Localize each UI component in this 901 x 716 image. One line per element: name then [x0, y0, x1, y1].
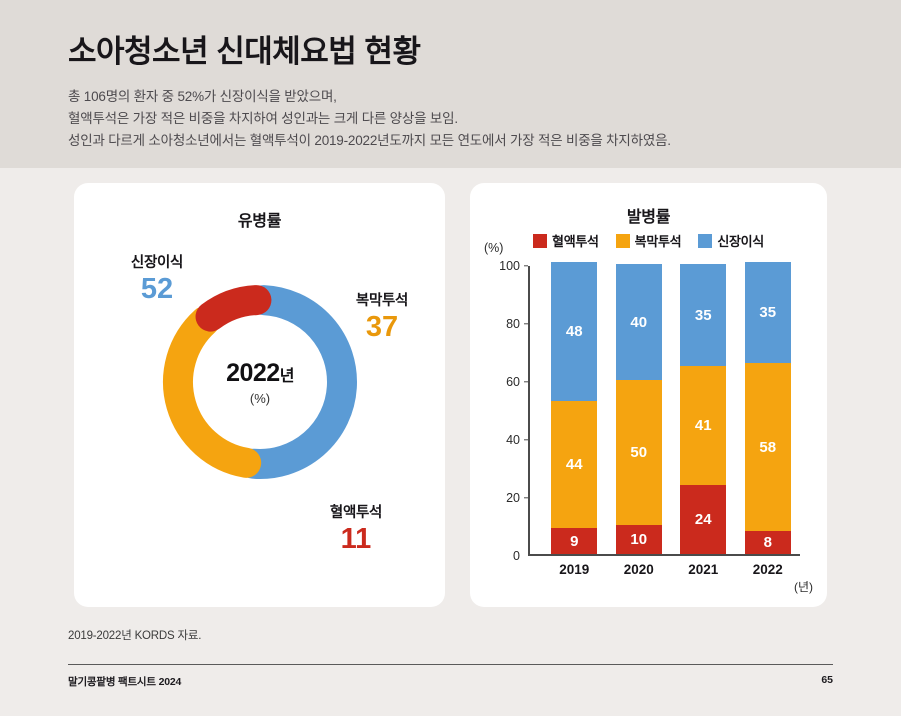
- bar-segment-신장이식: 35: [680, 264, 726, 366]
- donut-label-peritoneal: 복막투석 37: [328, 289, 436, 344]
- bar-segment-혈액투석: 10: [616, 525, 662, 554]
- legend-label: 복막투석: [635, 231, 682, 250]
- footer-document-title: 말기콩팥병 팩트시트 2024: [68, 674, 181, 689]
- y-tick-label: 40: [506, 433, 520, 447]
- footer-page-number: 65: [821, 674, 833, 686]
- y-tick-mark: [524, 323, 528, 324]
- donut-label-transplant-value: 52: [102, 273, 212, 306]
- prevalence-title: 유병률: [74, 207, 445, 231]
- x-tick-label-2022: 2022: [745, 562, 791, 577]
- bar-group-2020: 105040: [616, 264, 662, 554]
- legend-label: 신장이식: [717, 231, 764, 250]
- donut-label-hemodialysis-name: 혈액투석: [302, 501, 410, 522]
- y-tick-label: 80: [506, 317, 520, 331]
- legend-swatch-icon: [533, 234, 547, 248]
- x-axis-line: [528, 554, 800, 556]
- legend-label: 혈액투석: [552, 231, 599, 250]
- x-tick-label-2021: 2021: [680, 562, 726, 577]
- legend-item-신장이식: 신장이식: [698, 231, 764, 250]
- legend-swatch-icon: [698, 234, 712, 248]
- slide-page: 소아청소년 신대체요법 현황 총 106명의 환자 중 52%가 신장이식을 받…: [0, 0, 901, 716]
- y-tick-mark: [524, 381, 528, 382]
- bar-group-2022: 85835: [745, 262, 791, 555]
- legend-item-복막투석: 복막투석: [616, 231, 682, 250]
- page-title: 소아청소년 신대체요법 현황: [68, 26, 420, 71]
- donut-label-transplant-name: 신장이식: [102, 251, 212, 272]
- x-tick-label-2019: 2019: [551, 562, 597, 577]
- subtitle-block: 총 106명의 환자 중 52%가 신장이식을 받았으며, 혈액투석은 가장 적…: [68, 86, 671, 152]
- bar-segment-신장이식: 35: [745, 262, 791, 364]
- legend-item-혈액투석: 혈액투석: [533, 231, 599, 250]
- bar-segment-혈액투석: 8: [745, 531, 791, 554]
- bar-segment-신장이식: 48: [551, 262, 597, 401]
- bar-group-2019: 94448: [551, 262, 597, 555]
- y-tick-mark: [524, 265, 528, 266]
- y-tick-label: 100: [499, 259, 520, 273]
- bar-segment-복막투석: 50: [616, 380, 662, 525]
- incidence-title: 발병률: [470, 203, 827, 227]
- subtitle-line-1: 총 106명의 환자 중 52%가 신장이식을 받았으며,: [68, 86, 671, 108]
- y-tick-mark: [524, 497, 528, 498]
- donut-label-peritoneal-value: 37: [328, 311, 436, 344]
- y-tick-label: 0: [513, 549, 520, 563]
- donut-year-value: 2022: [226, 359, 280, 387]
- subtitle-line-3: 성인과 다르게 소아청소년에서는 혈액투석이 2019-2022년도까지 모든 …: [68, 130, 671, 152]
- x-axis-unit-label: (년): [794, 578, 813, 595]
- source-note: 2019-2022년 KORDS 자료.: [68, 627, 201, 643]
- donut-unit-label: (%): [250, 391, 270, 406]
- bar-segment-신장이식: 40: [616, 264, 662, 380]
- bar-segment-복막투석: 44: [551, 401, 597, 529]
- donut-label-hemodialysis: 혈액투석 11: [302, 501, 410, 556]
- subtitle-line-2: 혈액투석은 가장 적은 비중을 차지하여 성인과는 크게 다른 양상을 보임.: [68, 108, 671, 130]
- incidence-legend: 혈액투석복막투석신장이식: [470, 231, 827, 250]
- donut-label-transplant: 신장이식 52: [102, 251, 212, 306]
- incidence-card: 발병률 혈액투석복막투석신장이식 (%) 020406080100 944481…: [470, 183, 827, 607]
- y-tick-label: 20: [506, 491, 520, 505]
- prevalence-card: 유병률 2022년 (%) 신장이식 52 복막투석 37 혈액투석 11: [74, 183, 445, 607]
- y-tick-mark: [524, 439, 528, 440]
- legend-swatch-icon: [616, 234, 630, 248]
- x-tick-label-2020: 2020: [616, 562, 662, 577]
- donut-year: 2022년: [226, 359, 294, 388]
- incidence-plot-area: 020406080100 9444810504024413585835 2019…: [528, 266, 800, 556]
- bar-segment-복막투석: 41: [680, 366, 726, 485]
- y-axis-unit-label: (%): [484, 241, 503, 255]
- donut-year-suffix: 년: [280, 368, 294, 385]
- bar-segment-혈액투석: 9: [551, 528, 597, 554]
- footer-divider: [68, 664, 833, 665]
- donut-label-peritoneal-name: 복막투석: [328, 289, 436, 310]
- bar-segment-복막투석: 58: [745, 363, 791, 531]
- y-axis-line: [528, 266, 530, 556]
- donut-label-hemodialysis-value: 11: [302, 523, 410, 556]
- bar-segment-혈액투석: 24: [680, 485, 726, 555]
- bar-group-2021: 244135: [680, 264, 726, 554]
- y-tick-label: 60: [506, 375, 520, 389]
